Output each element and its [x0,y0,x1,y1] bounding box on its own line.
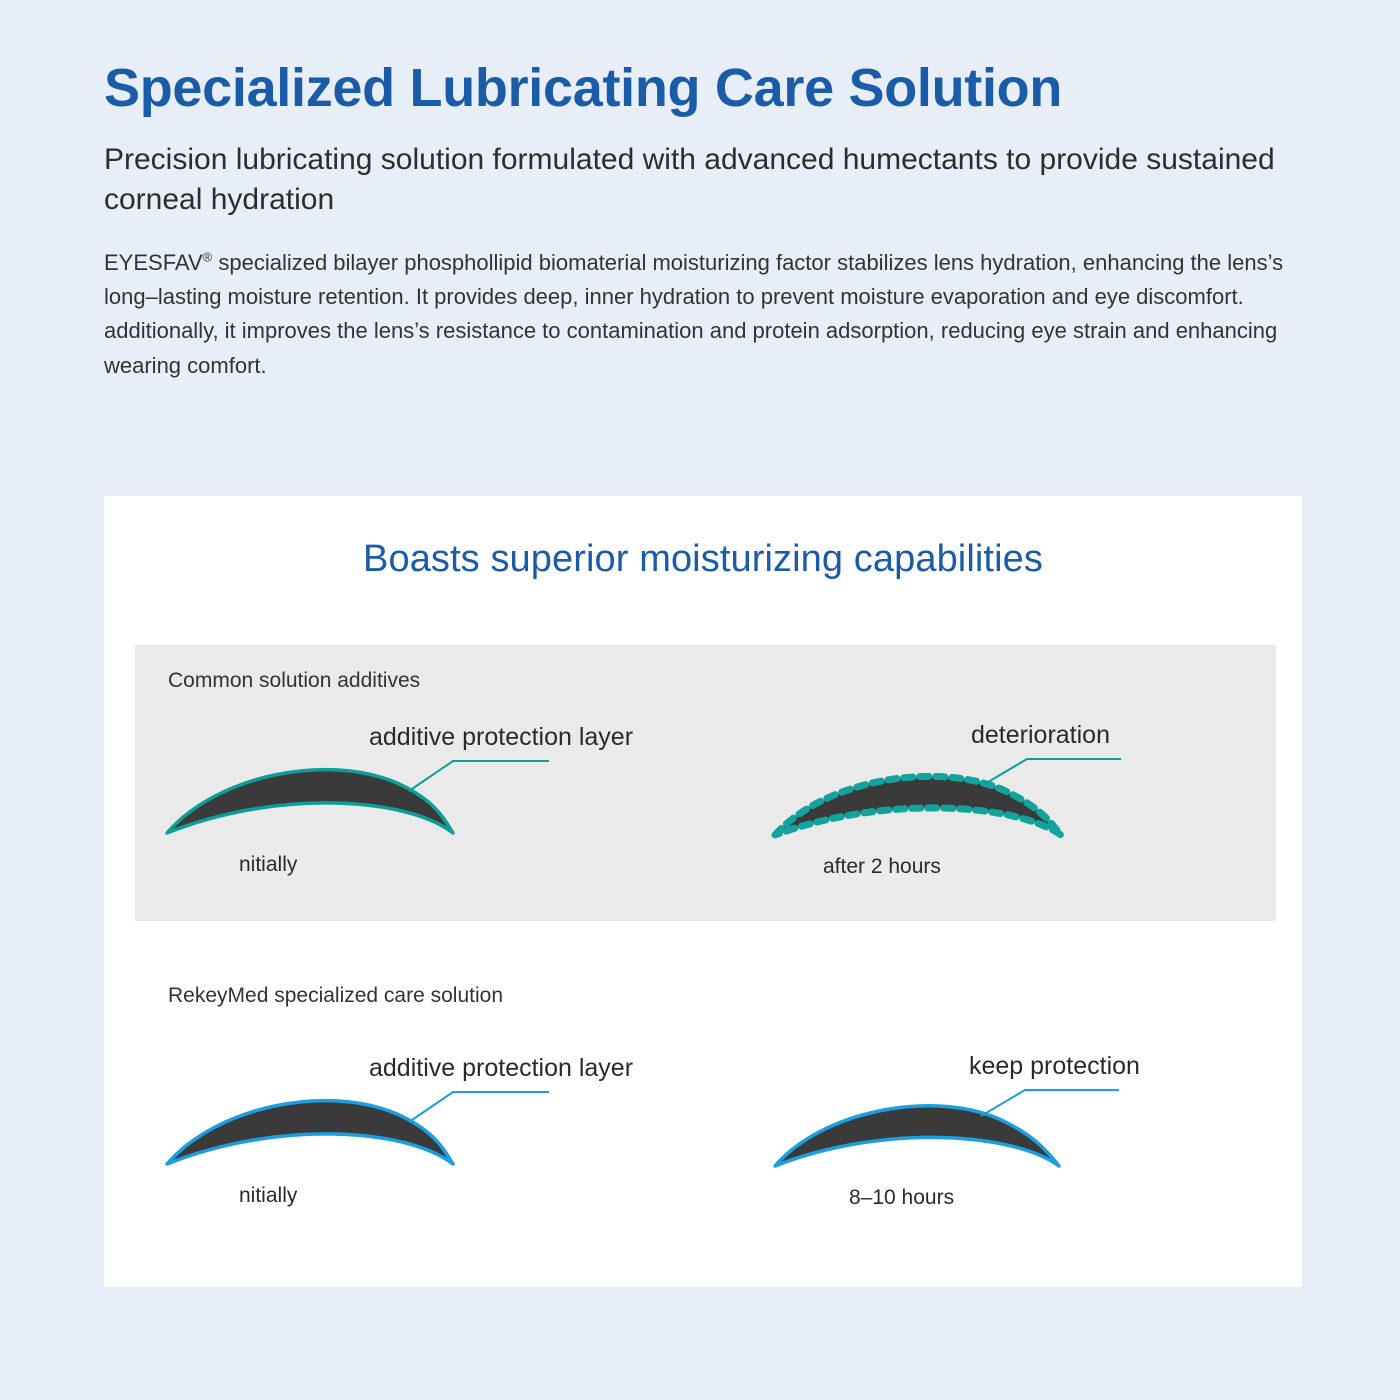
lens-shape-dashed [775,776,1061,835]
callout-leader-line [409,761,549,791]
lens-diagram-svg [765,1054,1305,1244]
body-paragraph-text: specialized bilayer phosphollipid biomat… [104,250,1283,378]
lens-shape-solid [167,770,453,833]
lens-diagram-svg [765,723,1305,913]
diagram-rekeymed-8-10-hours: keep protection 8–10 hours [765,1054,1305,1244]
brand-name: EYESFAV [104,250,203,275]
stage-label-initially: nitially [239,853,297,877]
diagram-rekeymed-initial: additive protection layer nitially [157,1054,697,1244]
callout-leader-line [981,1090,1119,1116]
stage-label-initially: nitially [239,1184,297,1208]
infographic-page: Specialized Lubricating Care Solution Pr… [0,0,1400,1400]
diagram-common-after-2-hours: deterioration after 2 hours [765,723,1305,913]
panel-label-common-solution: Common solution additives [168,669,420,693]
panel-common-solution: Common solution additives additive prote… [135,645,1276,921]
stage-label-after-2-hours: after 2 hours [823,855,941,879]
panel-label-rekeymed-solution: RekeyMed specialized care solution [168,984,503,1008]
comparison-card: Boasts superior moisturizing capabilitie… [104,496,1302,1287]
callout-label-deterioration: deterioration [971,721,1110,750]
card-title: Boasts superior moisturizing capabilitie… [104,538,1302,581]
callout-label-additive-protection-layer: additive protection layer [369,723,633,752]
header-block: Specialized Lubricating Care Solution Pr… [104,58,1344,383]
callout-label-additive-protection-layer: additive protection layer [369,1054,633,1083]
callout-leader-line [983,759,1121,785]
callout-label-keep-protection: keep protection [969,1052,1140,1081]
page-subtitle: Precision lubricating solution formulate… [104,140,1336,219]
diagram-common-initial: additive protection layer nitially [157,723,697,913]
panel-rekeymed-solution: RekeyMed specialized care solution addit… [135,960,1276,1250]
page-title: Specialized Lubricating Care Solution [104,58,1344,118]
stage-label-8-10-hours: 8–10 hours [849,1186,954,1210]
registered-trademark-icon: ® [203,249,213,264]
callout-leader-line [409,1092,549,1122]
lens-shape-solid [167,1101,453,1164]
body-paragraph: EYESFAV® specialized bilayer phosphollip… [104,246,1319,383]
lens-shape-solid [775,1106,1059,1166]
